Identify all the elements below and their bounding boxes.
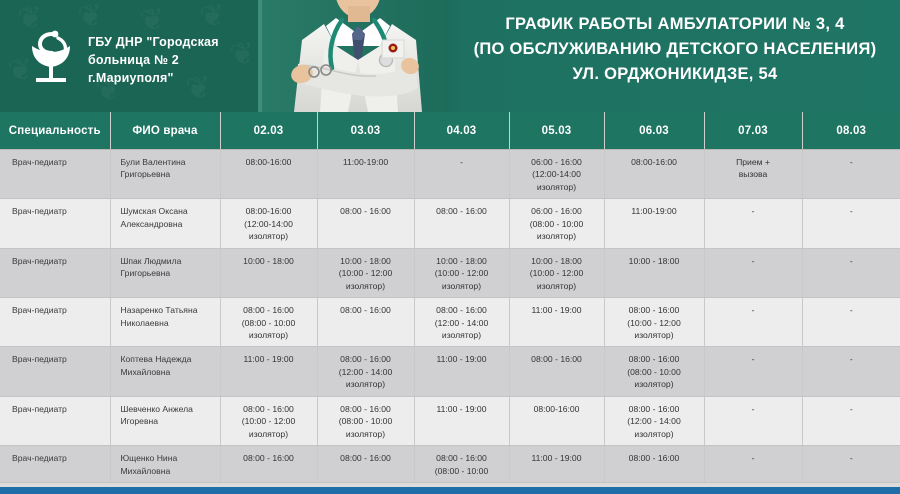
- page-title-line1: ГРАФИК РАБОТЫ АМБУЛАТОРИИ № 3, 4: [450, 12, 900, 37]
- cell-schedule-02-03: 08:00 - 16:00(08:00 - 10:00изолятор): [220, 298, 317, 347]
- cell-schedule-07-03: -: [704, 248, 802, 297]
- column-header-specialty: Специальность: [0, 112, 110, 150]
- schedule-line: 11:00 - 19:00: [224, 353, 314, 365]
- schedule-line: 06:00 - 16:00: [513, 156, 601, 168]
- doctor-name-line: Шпак Людмила: [121, 255, 217, 267]
- column-header-date-05-03: 05.03: [509, 112, 604, 150]
- schedule-line: 08:00 - 16:00: [321, 353, 411, 365]
- doctor-name-line: Були Валентина: [121, 156, 217, 168]
- cell-schedule-02-03: 08:00-16:00(12:00-14:00изолятор): [220, 199, 317, 248]
- cell-schedule-05-03: 06:00 - 16:00(08:00 - 10:00изолятор): [509, 199, 604, 248]
- cell-schedule-05-03: 08:00-16:00: [509, 396, 604, 445]
- table-header-row: Специальность ФИО врача 02.03 03.03 04.0…: [0, 112, 900, 150]
- schedule-line: вызова: [708, 168, 799, 180]
- schedule-line: изолятор): [608, 378, 701, 390]
- schedule-line: 08:00-16:00: [513, 403, 601, 415]
- cell-schedule-08-03: -: [802, 199, 900, 248]
- schedule-line: (12:00 - 14:00: [418, 317, 506, 329]
- cell-schedule-04-03: 11:00 - 19:00: [414, 396, 509, 445]
- schedule-line: 08:00 - 16:00: [418, 304, 506, 316]
- cell-schedule-03-03: 08:00 - 16:00: [317, 199, 414, 248]
- schedule-line: (08:00 - 10:00: [418, 465, 506, 477]
- schedule-line: (12:00 - 14:00: [608, 415, 701, 427]
- cell-schedule-02-03: 11:00 - 19:00: [220, 347, 317, 396]
- schedule-line: 08:00 - 16:00: [418, 452, 506, 464]
- cell-schedule-03-03: 08:00 - 16:00: [317, 298, 414, 347]
- schedule-line: 08:00 - 16:00: [321, 403, 411, 415]
- cell-schedule-08-03: -: [802, 150, 900, 199]
- schedule-line: (12:00-14:00: [224, 218, 314, 230]
- cell-schedule-03-03: 08:00 - 16:00(12:00 - 14:00изолятор): [317, 347, 414, 396]
- organization-name-line1: ГБУ ДНР "Городская: [88, 33, 268, 51]
- schedule-line: изолятор): [321, 378, 411, 390]
- column-header-doctor: ФИО врача: [110, 112, 220, 150]
- page-title-line3: УЛ. ОРДЖОНИКИДЗЕ, 54: [450, 62, 900, 87]
- column-header-date-02-03: 02.03: [220, 112, 317, 150]
- schedule-line: изолятор): [513, 181, 601, 193]
- schedule-line: изолятор): [321, 280, 411, 292]
- schedule-line: 08:00-16:00: [224, 156, 314, 168]
- doctor-name-line: Григорьевна: [121, 267, 217, 279]
- cell-schedule-03-03: 10:00 - 18:00(10:00 - 12:00изолятор): [317, 248, 414, 297]
- cell-specialty: Врач-педиатр: [0, 298, 110, 347]
- schedule-line: -: [806, 255, 898, 267]
- cell-schedule-03-03: 11:00-19:00: [317, 150, 414, 199]
- column-header-date-08-03: 08.03: [802, 112, 900, 150]
- page-title: ГРАФИК РАБОТЫ АМБУЛАТОРИИ № 3, 4 (ПО ОБС…: [450, 12, 900, 86]
- cell-doctor-name: Були ВалентинаГригорьевна: [110, 150, 220, 199]
- cell-schedule-04-03: 10:00 - 18:00(10:00 - 12:00изолятор): [414, 248, 509, 297]
- schedule-line: -: [806, 353, 898, 365]
- cell-schedule-02-03: 10:00 - 18:00: [220, 248, 317, 297]
- cell-schedule-08-03: -: [802, 347, 900, 396]
- cell-schedule-05-03: 10:00 - 18:00(10:00 - 12:00изолятор): [509, 248, 604, 297]
- schedule-line: 11:00 - 19:00: [418, 403, 506, 415]
- schedule-line: изолятор): [321, 428, 411, 440]
- cell-schedule-08-03: -: [802, 396, 900, 445]
- cell-schedule-06-03: 08:00 - 16:00(10:00 - 12:00изолятор): [604, 298, 704, 347]
- cell-schedule-08-03: -: [802, 298, 900, 347]
- cell-schedule-08-03: -: [802, 446, 900, 483]
- cell-specialty: Врач-педиатр: [0, 199, 110, 248]
- schedule-line: изолятор): [513, 280, 601, 292]
- cell-schedule-06-03: 08:00 - 16:00: [604, 446, 704, 483]
- cell-schedule-03-03: 08:00 - 16:00(08:00 - 10:00изолятор): [317, 396, 414, 445]
- cell-schedule-07-03: -: [704, 396, 802, 445]
- bowl-of-hygieia-icon: [22, 26, 80, 88]
- schedule-line: -: [708, 304, 799, 316]
- schedule-line: 11:00 - 19:00: [418, 353, 506, 365]
- schedule-line: 11:00-19:00: [321, 156, 411, 168]
- schedule-line: (08:00 - 10:00: [224, 317, 314, 329]
- cell-schedule-05-03: 08:00 - 16:00: [509, 347, 604, 396]
- schedule-line: (08:00 - 10:00: [513, 218, 601, 230]
- table-row: Врач-педиатрШумская ОксанаАлександровна0…: [0, 199, 900, 248]
- cell-schedule-02-03: 08:00-16:00: [220, 150, 317, 199]
- schedule-line: 08:00-16:00: [224, 205, 314, 217]
- column-header-date-04-03: 04.03: [414, 112, 509, 150]
- doctor-name-line: Назаренко Татьяна: [121, 304, 217, 316]
- cell-specialty: Врач-педиатр: [0, 347, 110, 396]
- table-row: Врач-педиатрЮщенко НинаМихайловна08:00 -…: [0, 446, 900, 483]
- schedule-line: 10:00 - 18:00: [608, 255, 701, 267]
- schedule-table: Специальность ФИО врача 02.03 03.03 04.0…: [0, 112, 900, 483]
- schedule-line: (12:00 - 14:00: [321, 366, 411, 378]
- footer-accent-bar: [0, 487, 900, 494]
- cell-specialty: Врач-педиатр: [0, 248, 110, 297]
- schedule-line: изолятор): [224, 329, 314, 341]
- table-row: Врач-педиатрШпак ЛюдмилаГригорьевна10:00…: [0, 248, 900, 297]
- table-row: Врач-педиатрШевченко АнжелаИгоревна08:00…: [0, 396, 900, 445]
- schedule-line: -: [708, 403, 799, 415]
- schedule-line: -: [806, 205, 898, 217]
- cell-schedule-07-03: -: [704, 298, 802, 347]
- schedule-line: 10:00 - 18:00: [224, 255, 314, 267]
- cell-doctor-name: Ющенко НинаМихайловна: [110, 446, 220, 483]
- schedule-line: 08:00 - 16:00: [321, 304, 411, 316]
- schedule-line: 08:00 - 16:00: [608, 304, 701, 316]
- schedule-line: 08:00 - 16:00: [224, 304, 314, 316]
- column-header-date-07-03: 07.03: [704, 112, 802, 150]
- schedule-line: (08:00 - 10:00: [321, 415, 411, 427]
- cell-schedule-07-03: -: [704, 446, 802, 483]
- cell-doctor-name: Коптева НадеждаМихайловна: [110, 347, 220, 396]
- organization-name-line2: больница № 2 г.Мариуполя": [88, 51, 268, 87]
- schedule-line: 08:00 - 16:00: [608, 452, 701, 464]
- schedule-line: 10:00 - 18:00: [418, 255, 506, 267]
- doctor-name-line: Александровна: [121, 218, 217, 230]
- schedule-line: 08:00 - 16:00: [513, 353, 601, 365]
- cell-schedule-07-03: -: [704, 199, 802, 248]
- schedule-line: -: [708, 255, 799, 267]
- cell-schedule-02-03: 08:00 - 16:00(10:00 - 12:00изолятор): [220, 396, 317, 445]
- schedule-line: (12:00-14:00: [513, 168, 601, 180]
- cell-schedule-02-03: 08:00 - 16:00: [220, 446, 317, 483]
- schedule-line: 08:00 - 16:00: [224, 403, 314, 415]
- cell-schedule-06-03: 08:00 - 16:00(12:00 - 14:00изолятор): [604, 396, 704, 445]
- cell-schedule-05-03: 11:00 - 19:00: [509, 298, 604, 347]
- doctor-name-line: Коптева Надежда: [121, 353, 217, 365]
- table-body: Врач-педиатрБули ВалентинаГригорьевна08:…: [0, 150, 900, 483]
- schedule-line: изолятор): [418, 329, 506, 341]
- page-title-line2: (ПО ОБСЛУЖИВАНИЮ ДЕТСКОГО НАСЕЛЕНИЯ): [450, 37, 900, 62]
- doctor-name-line: Николаевна: [121, 317, 217, 329]
- cell-schedule-05-03: 11:00 - 19:00: [509, 446, 604, 483]
- cell-schedule-06-03: 11:00-19:00: [604, 199, 704, 248]
- schedule-line: изолятор): [608, 329, 701, 341]
- doctor-name-line: Шевченко Анжела: [121, 403, 217, 415]
- table-row: Врач-педиатрБули ВалентинаГригорьевна08:…: [0, 150, 900, 199]
- cell-specialty: Врач-педиатр: [0, 446, 110, 483]
- cell-schedule-03-03: 08:00 - 16:00: [317, 446, 414, 483]
- schedule-line: 08:00 - 16:00: [608, 403, 701, 415]
- schedule-line: 08:00 - 16:00: [418, 205, 506, 217]
- doctor-name-line: Ющенко Нина: [121, 452, 217, 464]
- schedule-poster: ❦ ❦ ❦ ❦ ❦ ❦ ❦ ❦ ГБУ ДНР "Городская больн…: [0, 0, 900, 494]
- doctor-name-line: Игоревна: [121, 415, 217, 427]
- cell-schedule-04-03: 08:00 - 16:00(12:00 - 14:00изолятор): [414, 298, 509, 347]
- cell-specialty: Врач-педиатр: [0, 396, 110, 445]
- schedule-line: 08:00-16:00: [608, 156, 701, 168]
- cell-specialty: Врач-педиатр: [0, 150, 110, 199]
- schedule-line: изолятор): [513, 230, 601, 242]
- schedule-line: 11:00-19:00: [608, 205, 701, 217]
- schedule-line: 08:00 - 16:00: [321, 452, 411, 464]
- schedule-line: (10:00 - 12:00: [224, 415, 314, 427]
- column-header-date-03-03: 03.03: [317, 112, 414, 150]
- doctor-name-line: Григорьевна: [121, 168, 217, 180]
- cell-schedule-06-03: 08:00 - 16:00(08:00 - 10:00изолятор): [604, 347, 704, 396]
- schedule-line: (08:00 - 10:00: [608, 366, 701, 378]
- doctor-name-line: Михайловна: [121, 366, 217, 378]
- schedule-line: -: [708, 353, 799, 365]
- schedule-line: (10:00 - 12:00: [608, 317, 701, 329]
- schedule-line: изолятор): [224, 230, 314, 242]
- schedule-line: 08:00 - 16:00: [321, 205, 411, 217]
- schedule-line: (10:00 - 12:00: [513, 267, 601, 279]
- schedule-line: изолятор): [224, 428, 314, 440]
- column-header-date-06-03: 06.03: [604, 112, 704, 150]
- schedule-line: изолятор): [418, 280, 506, 292]
- cell-schedule-04-03: 08:00 - 16:00: [414, 199, 509, 248]
- schedule-line: -: [806, 452, 898, 464]
- schedule-line: 06:00 - 16:00: [513, 205, 601, 217]
- table-row: Врач-педиатрКоптева НадеждаМихайловна11:…: [0, 347, 900, 396]
- cell-schedule-08-03: -: [802, 248, 900, 297]
- cell-schedule-07-03: -: [704, 347, 802, 396]
- cell-doctor-name: Назаренко ТатьянаНиколаевна: [110, 298, 220, 347]
- cell-schedule-05-03: 06:00 - 16:00(12:00-14:00изолятор): [509, 150, 604, 199]
- schedule-line: 08:00 - 16:00: [608, 353, 701, 365]
- schedule-line: -: [806, 156, 898, 168]
- schedule-line: 11:00 - 19:00: [513, 452, 601, 464]
- cell-doctor-name: Шумская ОксанаАлександровна: [110, 199, 220, 248]
- table-row: Врач-педиатрНазаренко ТатьянаНиколаевна0…: [0, 298, 900, 347]
- doctor-name-line: Шумская Оксана: [121, 205, 217, 217]
- schedule-line: Прием +: [708, 156, 799, 168]
- schedule-line: 10:00 - 18:00: [321, 255, 411, 267]
- cell-doctor-name: Шпак ЛюдмилаГригорьевна: [110, 248, 220, 297]
- organization-name: ГБУ ДНР "Городская больница № 2 г.Мариуп…: [88, 33, 268, 87]
- doctor-name-line: Михайловна: [121, 465, 217, 477]
- schedule-line: 11:00 - 19:00: [513, 304, 601, 316]
- cell-schedule-07-03: Прием +вызова: [704, 150, 802, 199]
- cell-schedule-06-03: 10:00 - 18:00: [604, 248, 704, 297]
- poster-header: ❦ ❦ ❦ ❦ ❦ ❦ ❦ ❦ ГБУ ДНР "Городская больн…: [0, 0, 900, 112]
- schedule-line: изолятор): [608, 428, 701, 440]
- cell-doctor-name: Шевченко АнжелаИгоревна: [110, 396, 220, 445]
- schedule-line: -: [708, 205, 799, 217]
- schedule-line: -: [806, 304, 898, 316]
- doctor-photo: [262, 0, 448, 112]
- schedule-line: -: [708, 452, 799, 464]
- cell-schedule-04-03: 11:00 - 19:00: [414, 347, 509, 396]
- schedule-line: (10:00 - 12:00: [321, 267, 411, 279]
- cell-schedule-06-03: 08:00-16:00: [604, 150, 704, 199]
- schedule-line: 08:00 - 16:00: [224, 452, 314, 464]
- schedule-line: -: [806, 403, 898, 415]
- schedule-line: -: [418, 156, 506, 168]
- schedule-line: (10:00 - 12:00: [418, 267, 506, 279]
- schedule-line: 10:00 - 18:00: [513, 255, 601, 267]
- cell-schedule-04-03: -: [414, 150, 509, 199]
- cell-schedule-04-03: 08:00 - 16:00(08:00 - 10:00: [414, 446, 509, 483]
